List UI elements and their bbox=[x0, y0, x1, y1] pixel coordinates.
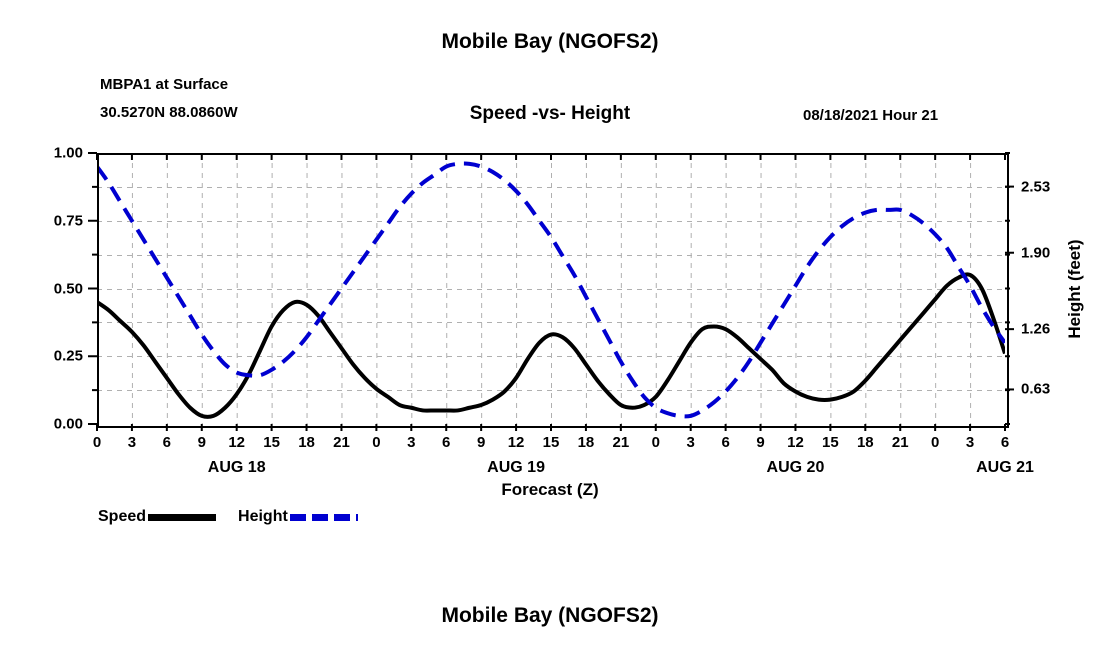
plot-area bbox=[97, 153, 1005, 424]
x-axis-ticklabel: 6 bbox=[721, 434, 729, 451]
x-axis-ticklabel: 0 bbox=[652, 434, 660, 451]
run-timestamp-label: 08/18/2021 Hour 21 bbox=[803, 107, 938, 124]
x-axis-day-label: AUG 21 bbox=[976, 459, 1034, 477]
x-axis-ticklabel: 9 bbox=[477, 434, 485, 451]
page-title-top: Mobile Bay (NGOFS2) bbox=[0, 30, 1100, 54]
x-axis-day-label: AUG 18 bbox=[208, 459, 266, 477]
legend: Speed Height bbox=[98, 508, 380, 526]
x-axis-ticklabel: 6 bbox=[1001, 434, 1009, 451]
x-axis-ticklabel: 12 bbox=[787, 434, 804, 451]
x-axis-ticklabel: 12 bbox=[228, 434, 245, 451]
x-axis-ticklabel: 21 bbox=[892, 434, 909, 451]
x-axis-ticklabel: 3 bbox=[128, 434, 136, 451]
x-axis-title: Forecast (Z) bbox=[0, 480, 1100, 500]
x-axis-ticklabel: 0 bbox=[931, 434, 939, 451]
x-axis-ticklabel: 3 bbox=[966, 434, 974, 451]
x-axis-ticklabel: 15 bbox=[822, 434, 839, 451]
station-label: MBPA1 at Surface bbox=[100, 76, 228, 93]
x-axis-ticklabel: 0 bbox=[372, 434, 380, 451]
y-axis-left-ticklabel: 0.25 bbox=[54, 348, 83, 365]
x-axis-day-label: AUG 19 bbox=[487, 459, 545, 477]
y-axis-right-ticklabel: 2.53 bbox=[1021, 178, 1050, 195]
x-axis-ticklabel: 6 bbox=[442, 434, 450, 451]
y-axis-left-ticklabel: 0.75 bbox=[54, 212, 83, 229]
y-axis-right-ticklabel: 0.63 bbox=[1021, 381, 1050, 398]
x-axis-ticklabel: 21 bbox=[333, 434, 350, 451]
legend-swatch-height-icon bbox=[290, 514, 358, 521]
x-axis-ticklabel: 3 bbox=[407, 434, 415, 451]
legend-label-height: Height bbox=[238, 508, 288, 526]
x-axis-ticklabel: 9 bbox=[198, 434, 206, 451]
x-axis-ticklabel: 9 bbox=[756, 434, 764, 451]
x-axis-ticklabel: 21 bbox=[613, 434, 630, 451]
x-axis-day-label: AUG 20 bbox=[767, 459, 825, 477]
x-axis-ticklabel: 15 bbox=[263, 434, 280, 451]
y-axis-right-ticklabel: 1.26 bbox=[1021, 321, 1050, 338]
x-axis-ticklabel: 18 bbox=[298, 434, 315, 451]
x-axis-ticklabel: 18 bbox=[578, 434, 595, 451]
plot-frame bbox=[97, 153, 1009, 428]
legend-label-speed: Speed bbox=[98, 508, 146, 526]
legend-item-height[interactable]: Height bbox=[238, 508, 380, 526]
y-axis-left-ticklabel: 0.00 bbox=[54, 416, 83, 433]
y-axis-right-ticklabel: 1.90 bbox=[1021, 244, 1050, 261]
x-axis-ticklabel: 15 bbox=[543, 434, 560, 451]
x-axis-ticklabel: 3 bbox=[687, 434, 695, 451]
page-title-bottom: Mobile Bay (NGOFS2) bbox=[0, 604, 1100, 628]
legend-item-speed[interactable]: Speed bbox=[98, 508, 238, 526]
legend-swatch-speed-icon bbox=[148, 514, 216, 521]
x-axis-ticklabel: 0 bbox=[93, 434, 101, 451]
x-axis-ticklabel: 18 bbox=[857, 434, 874, 451]
y-axis-left-ticklabel: 0.50 bbox=[54, 280, 83, 297]
x-axis-ticklabel: 6 bbox=[163, 434, 171, 451]
chart-canvas: Mobile Bay (NGOFS2) MBPA1 at Surface 30.… bbox=[0, 0, 1100, 650]
y-axis-right-title: Height (feet) bbox=[1065, 189, 1085, 389]
y-axis-left-ticklabel: 1.00 bbox=[54, 145, 83, 162]
x-axis-ticklabel: 12 bbox=[508, 434, 525, 451]
